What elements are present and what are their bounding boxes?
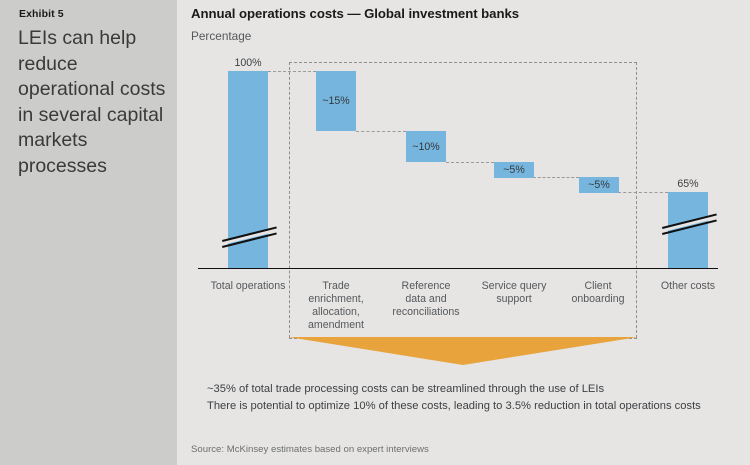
x-axis-label-client-onboarding: Clientonboarding — [558, 280, 638, 306]
connector-reference-to-service — [446, 162, 494, 163]
funnel-triangle-svg — [288, 337, 638, 365]
x-axis-line — [198, 268, 718, 269]
connector-client-to-other — [618, 192, 668, 193]
bar-value-total-operations: 100% — [218, 57, 278, 69]
note-line-2: There is potential to optimize 10% of th… — [207, 400, 701, 412]
source-note: Source: McKinsey estimates based on expe… — [191, 444, 429, 455]
bar-value-other-costs: 65% — [658, 178, 718, 190]
funnel-shape — [288, 337, 638, 365]
connector-trade-to-reference — [356, 131, 406, 132]
bar-value-reference-data: ~10% — [401, 131, 451, 162]
connector-service-to-client — [533, 177, 579, 178]
x-axis-label-other-costs: Other costs — [644, 280, 732, 293]
funnel-triangle — [288, 337, 638, 370]
waterfall-chart: 100% ~15% ~10% ~5% ~5% 65% Total — [0, 0, 573, 465]
x-axis-label-reference-data: Referencedata andreconciliations — [380, 280, 472, 319]
x-axis-label-trade-enrichment: Tradeenrichment,allocation,amendment — [296, 280, 376, 332]
exhibit-root: Exhibit 5 LEIs can help reduce operation… — [0, 0, 750, 465]
bar-value-trade-enrichment: ~15% — [311, 71, 361, 131]
x-axis-label-service-query: Service querysupport — [472, 280, 556, 306]
bracket-top-edge — [289, 62, 637, 63]
axis-break-total-operations — [222, 226, 276, 250]
axis-break-other-costs — [662, 213, 716, 237]
bar-value-service-query: ~5% — [489, 162, 539, 178]
x-axis-label-total-operations: Total operations — [198, 280, 298, 293]
bar-value-client-onboarding: ~5% — [574, 177, 624, 193]
bracket-left-edge — [289, 62, 290, 338]
note-line-1: ~35% of total trade processing costs can… — [207, 383, 604, 395]
connector-total-to-trade — [268, 71, 316, 72]
